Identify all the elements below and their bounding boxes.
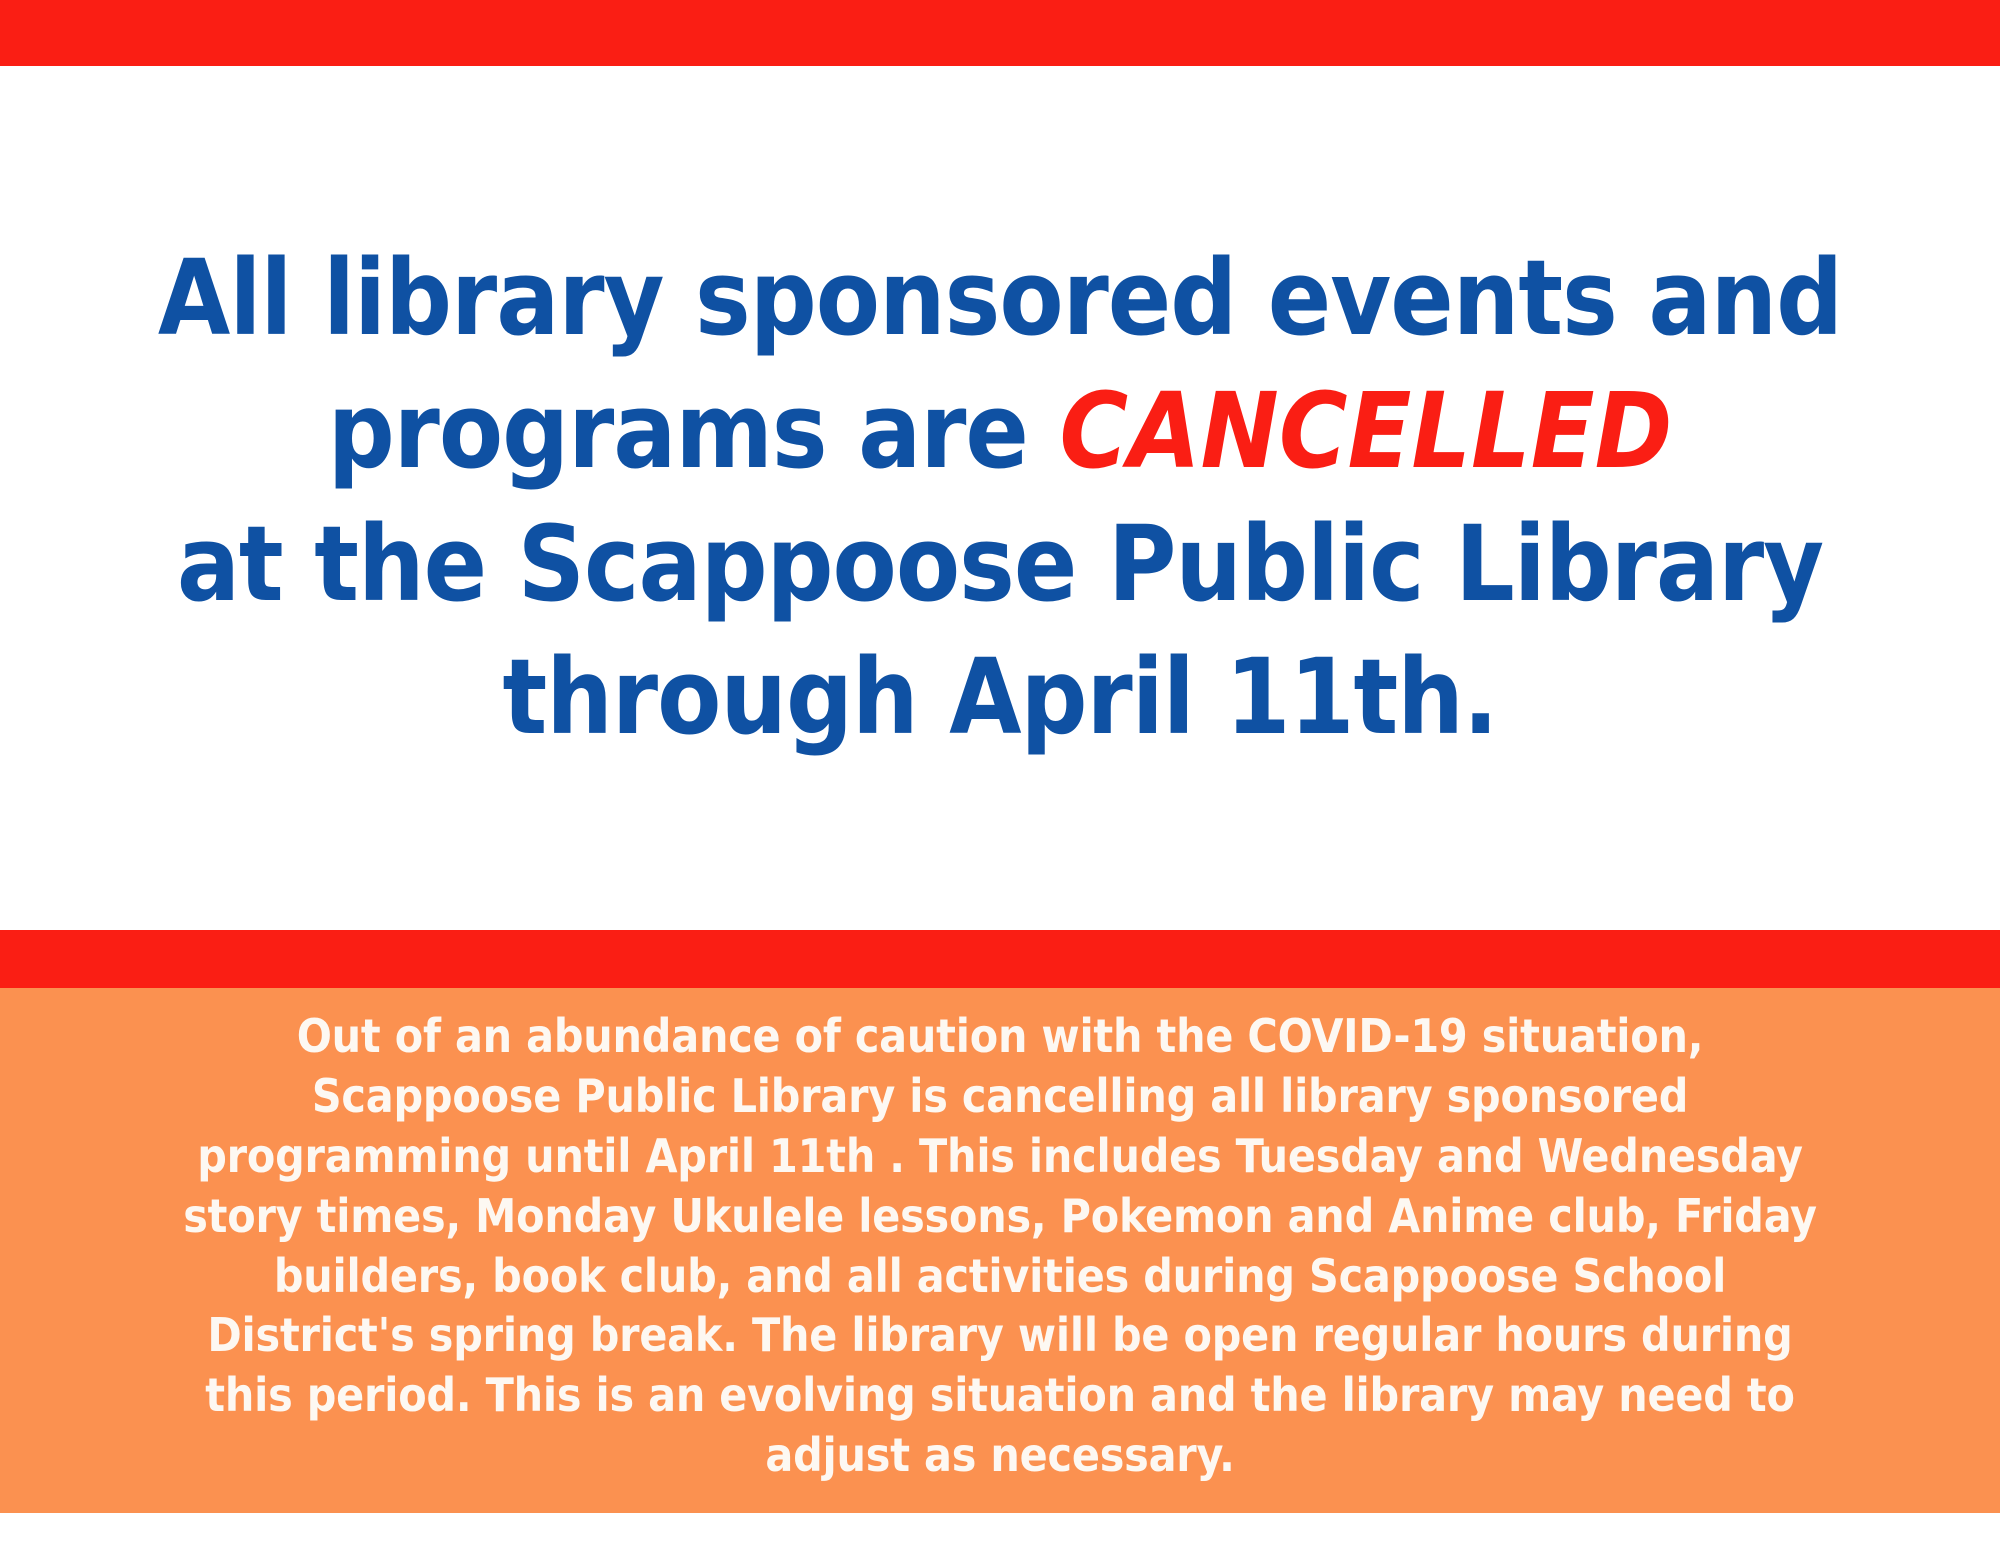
headline-line-2-prefix: programs are bbox=[328, 370, 1060, 492]
headline-line-3: at the Scappoose Public Library bbox=[40, 498, 1960, 631]
cancelled-emphasis: CANCELLED bbox=[1059, 370, 1672, 492]
headline-line-2: programs are CANCELLED bbox=[40, 365, 1960, 498]
bottom-white-strip bbox=[0, 1513, 2000, 1545]
body-region: Out of an abundance of caution with the … bbox=[0, 988, 2000, 1513]
body-paragraph: Out of an abundance of caution with the … bbox=[170, 1007, 1830, 1485]
headline-line-4: through April 11th. bbox=[40, 631, 1960, 764]
headline-line-1: All library sponsored events and bbox=[40, 232, 1960, 365]
announcement-poster: All library sponsored events and program… bbox=[0, 0, 2000, 1545]
top-red-accent-bar bbox=[0, 0, 2000, 66]
middle-red-divider-bar bbox=[0, 930, 2000, 988]
headline-region: All library sponsored events and program… bbox=[0, 66, 2000, 930]
page-title: All library sponsored events and program… bbox=[40, 232, 1960, 764]
